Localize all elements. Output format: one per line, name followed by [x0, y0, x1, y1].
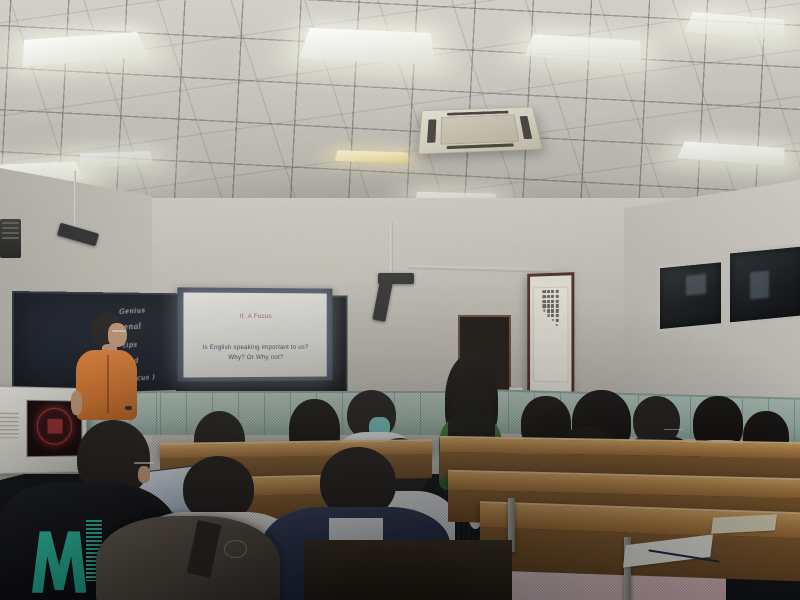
window-pane	[727, 243, 800, 326]
student-eyeglasses	[664, 429, 683, 431]
ceiling-air-conditioner	[418, 107, 543, 154]
backpack-buckle	[224, 540, 247, 558]
framed-calligraphy-scroll	[528, 272, 575, 397]
slide-question-line-2: Why? Or Why not?	[202, 353, 308, 364]
teacher-eyeglasses	[112, 330, 126, 332]
student-eyeglasses	[134, 462, 153, 464]
projected-slide: II. A Focus Is English speaking importan…	[183, 292, 326, 378]
high-strip-window	[648, 242, 800, 338]
scroll-column	[552, 290, 555, 382]
scroll-paper	[533, 286, 569, 383]
floor	[304, 540, 512, 600]
slide-question-line-1: Is English speaking important to us?	[202, 343, 308, 354]
projector-mount-pole	[390, 222, 393, 276]
ac-vent	[520, 116, 533, 139]
ac-vent	[427, 119, 436, 143]
ac-center-panel	[440, 114, 519, 144]
scroll-column	[543, 290, 546, 381]
teacher-arm	[71, 391, 83, 415]
scroll-column	[556, 290, 559, 382]
camera-mount-pole	[74, 171, 77, 231]
slide-title: II. A Focus	[240, 313, 272, 320]
slide-body: Is English speaking important to us? Why…	[202, 343, 308, 364]
student-ear	[138, 466, 151, 483]
teacher-shirt-placket	[107, 355, 109, 413]
window-pane	[657, 259, 724, 333]
teacher-presenting	[72, 312, 144, 432]
scroll-column	[547, 290, 550, 381]
classroom-photo: Genius Arsenal tips ( and focus ) II. A …	[0, 0, 800, 600]
wall-speaker	[0, 219, 21, 258]
backpack-on-desk[interactable]	[96, 516, 280, 600]
ceiling-light-panel	[299, 28, 434, 65]
projection-screen-frame: II. A Focus Is English speaking importan…	[177, 287, 332, 381]
window-reflection	[686, 273, 707, 296]
window-reflection	[750, 270, 769, 300]
teacher-face	[108, 323, 127, 347]
